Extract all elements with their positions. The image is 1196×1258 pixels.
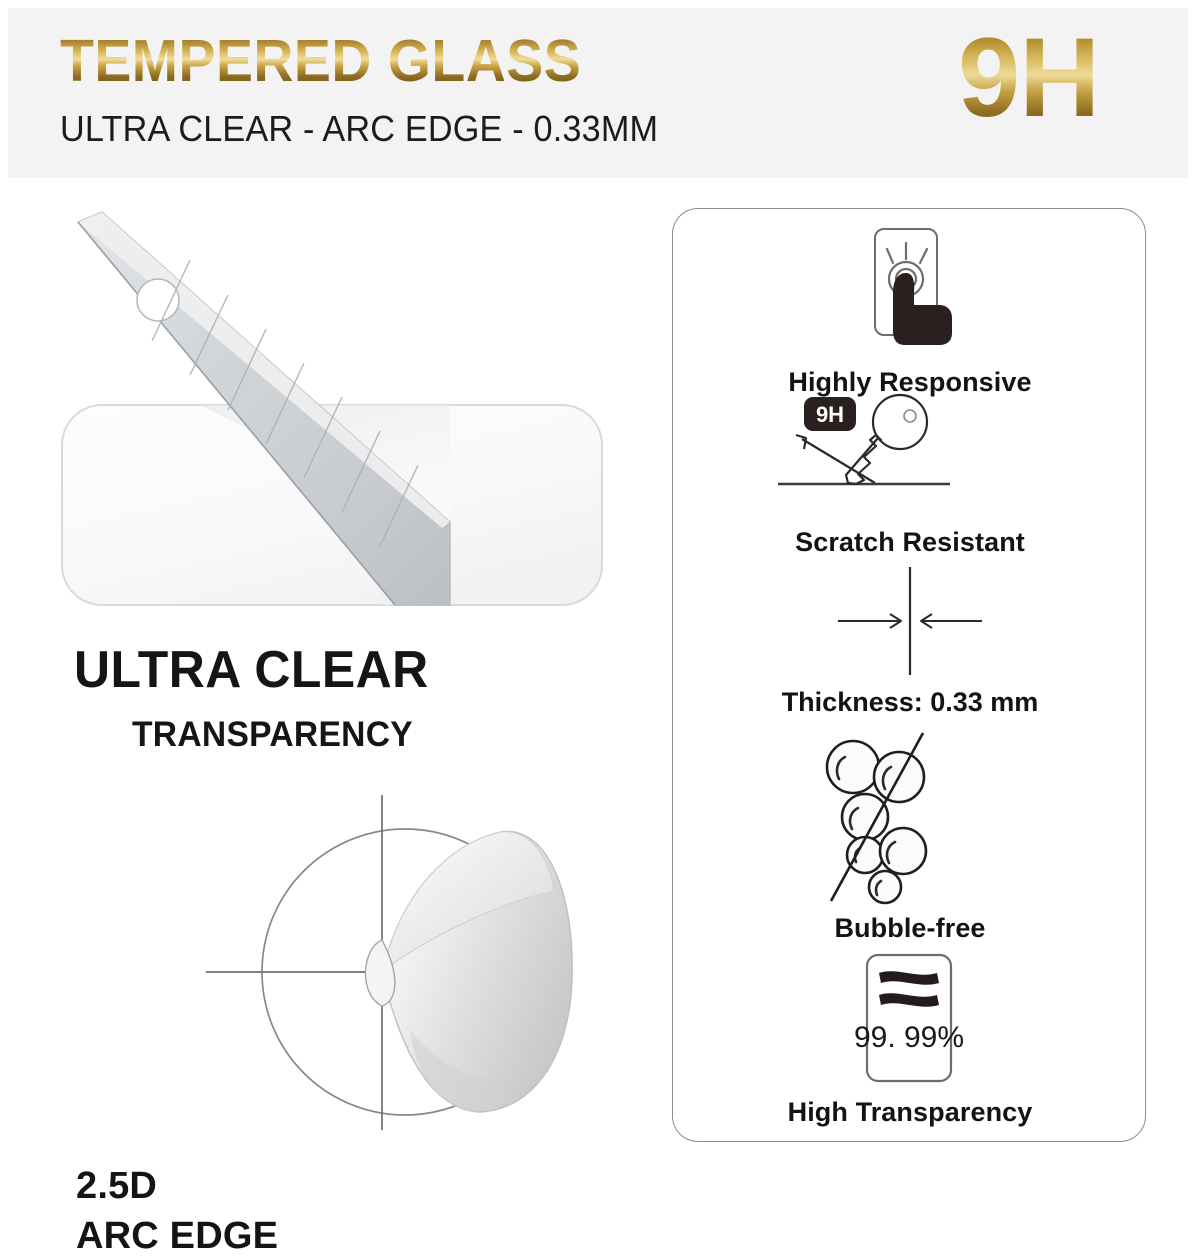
feature-label: Thickness: 0.33 mm xyxy=(673,687,1147,718)
transparency-subheading: TRANSPARENCY xyxy=(132,715,413,755)
key-scratch-icon: 9H xyxy=(760,391,1060,521)
feature-label: High Transparency xyxy=(673,1097,1147,1128)
touch-phone-icon xyxy=(835,221,985,361)
arc-edge-label-bottom: ARC EDGE xyxy=(76,1215,278,1258)
svg-text:9H: 9H xyxy=(816,402,844,427)
blade-hole xyxy=(137,279,179,321)
features-panel: Highly Responsive 9H Scratch Resistan xyxy=(672,208,1146,1142)
left-panel: ULTRA CLEAR TRANSPARENCY xyxy=(10,190,660,1150)
feature-scratch-resistant: 9H Scratch Resistant xyxy=(673,391,1147,558)
arc-edge-wedge xyxy=(365,831,572,1112)
bounce-arrow xyxy=(796,435,875,483)
arc-edge-magnifier-icon xyxy=(10,780,630,1130)
hardness-badge-9h: 9H xyxy=(958,22,1099,134)
feature-label: Bubble-free xyxy=(673,913,1147,944)
ultra-clear-heading: ULTRA CLEAR xyxy=(74,640,429,700)
transparency-value-text: 99. 99% xyxy=(854,1021,964,1054)
feature-thickness: Thickness: 0.33 mm xyxy=(673,565,1147,718)
key-shape xyxy=(846,395,927,484)
arc-edge-label-top: 2.5D xyxy=(76,1165,157,1208)
feature-bubble-free: Bubble-free xyxy=(673,729,1147,944)
screen-clarity-icon: 99. 99% xyxy=(805,951,1015,1091)
feature-label: Scratch Resistant xyxy=(673,527,1147,558)
bubbles-crossed-icon xyxy=(795,729,1025,907)
hardness-badge-icon: 9H xyxy=(804,397,856,431)
arrow-left xyxy=(921,614,982,628)
thickness-arrows-icon xyxy=(760,565,1060,683)
feature-high-transparency: 99. 99% High Transparency xyxy=(673,951,1147,1128)
feature-highly-responsive: Highly Responsive xyxy=(673,221,1147,398)
arrow-right xyxy=(838,614,901,628)
page-subtitle: ULTRA CLEAR - ARC EDGE - 0.33MM xyxy=(60,108,658,150)
utility-blade-icon xyxy=(50,200,640,620)
page-title: TEMPERED GLASS xyxy=(60,32,581,91)
